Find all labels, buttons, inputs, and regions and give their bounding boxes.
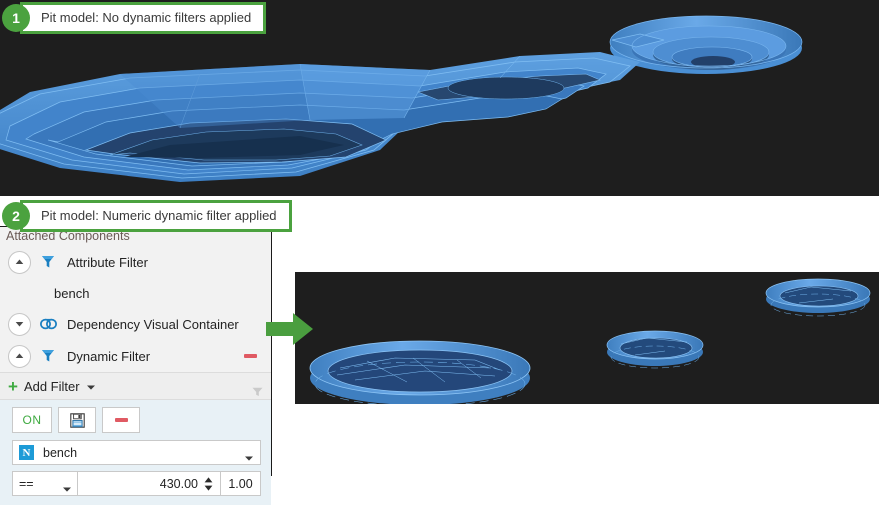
plus-icon: + [8, 378, 18, 395]
add-filter-bar[interactable]: + Add Filter [0, 372, 271, 400]
callout-badge: 2 [2, 202, 30, 230]
tree-row-bench[interactable]: bench [0, 278, 271, 308]
save-disk-icon[interactable] [58, 407, 96, 433]
chevron-down-icon[interactable] [8, 313, 31, 336]
remove-filter-button[interactable] [102, 407, 140, 433]
filter-funnel-icon [252, 386, 263, 400]
chevron-up-icon[interactable] [8, 345, 31, 368]
spinner-stepper[interactable] [204, 477, 213, 491]
tree-label: Dynamic Filter [67, 349, 150, 364]
chevron-down-icon[interactable] [63, 481, 71, 495]
operator-select[interactable]: == [12, 471, 78, 496]
filter-editor-toolbar: ON [12, 407, 261, 433]
filter-funnel-icon [37, 255, 59, 269]
tree-label: Dependency Visual Container [67, 317, 239, 332]
tree-row-dynamic-filter[interactable]: Dynamic Filter [0, 340, 271, 372]
filter-funnel-icon [37, 349, 59, 363]
add-filter-label: Add Filter [24, 379, 80, 394]
components-tree: Attribute Filter bench Dependency Visual… [0, 246, 271, 372]
callout-text: Pit model: No dynamic filters applied [20, 2, 266, 34]
spinner-down-icon [204, 485, 213, 491]
condition-row: == 430.00 1.00 [12, 471, 261, 496]
minus-icon [115, 418, 128, 422]
pit-model-filtered-render [295, 272, 879, 404]
flow-arrow-icon [266, 310, 314, 348]
tree-label: Attribute Filter [67, 255, 148, 270]
chevron-down-icon[interactable] [245, 450, 253, 464]
filter-value-input[interactable]: 430.00 [78, 471, 221, 496]
attached-components-panel: Attached Components Attribute Filter ben… [0, 226, 272, 476]
numeric-type-badge: N [19, 445, 34, 460]
callout-1: 1 Pit model: No dynamic filters applied [2, 2, 266, 34]
callout-badge: 1 [2, 4, 30, 32]
filter-value-text: 430.00 [160, 477, 198, 491]
tree-row-dependency-visual-container[interactable]: Dependency Visual Container [0, 308, 271, 340]
remove-dynamic-filter-icon[interactable] [244, 354, 257, 358]
pit-model-filtered-viewport[interactable] [295, 272, 879, 404]
dynamic-filter-editor: ON N bench == [0, 400, 271, 505]
attribute-select[interactable]: N bench [12, 440, 261, 465]
tree-label: bench [54, 286, 89, 301]
tree-row-attribute-filter[interactable]: Attribute Filter [0, 246, 271, 278]
callout-2: 2 Pit model: Numeric dynamic filter appl… [2, 200, 292, 232]
filter-step-input[interactable]: 1.00 [221, 471, 261, 496]
chevron-down-icon[interactable] [87, 379, 95, 393]
link-chain-icon [37, 318, 59, 330]
chevron-up-icon[interactable] [8, 251, 31, 274]
spinner-up-icon [204, 477, 213, 483]
attribute-select-value: bench [43, 446, 77, 460]
filter-on-toggle[interactable]: ON [12, 407, 52, 433]
callout-text: Pit model: Numeric dynamic filter applie… [20, 200, 292, 232]
operator-select-value: == [19, 477, 34, 491]
